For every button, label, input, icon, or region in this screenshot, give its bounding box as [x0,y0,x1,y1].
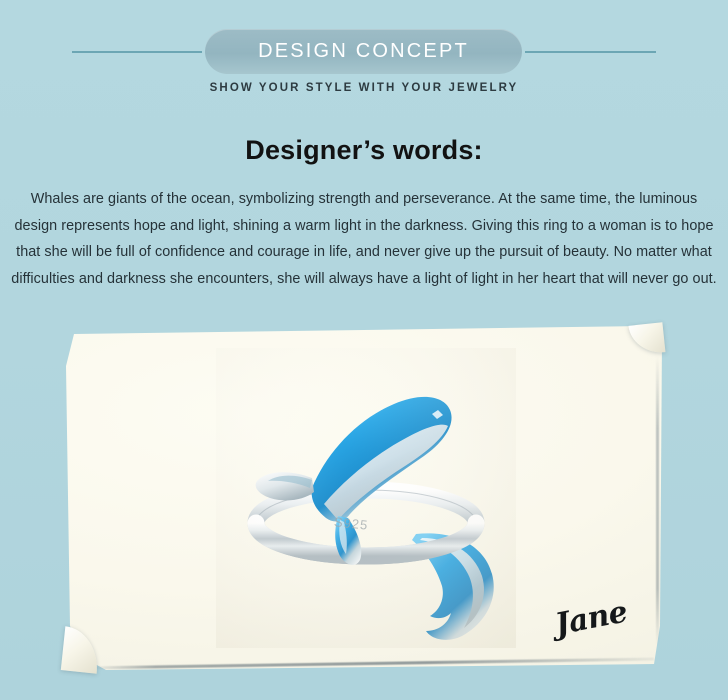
whale-ring-svg [216,348,516,648]
divider-line-left [72,51,202,53]
whale-ring-illustration: S925 [216,348,516,648]
header: DESIGN CONCEPT [0,0,728,118]
paper-edge-right [656,356,659,646]
page-title: Designer’s words: [0,135,728,166]
design-concept-badge-label: DESIGN CONCEPT [258,40,469,63]
header-subtitle: SHOW YOUR STYLE WITH YOUR JEWELRY [0,82,728,94]
page-background: DESIGN CONCEPT SHOW YOUR STYLE WITH YOUR… [0,0,728,700]
design-concept-badge: DESIGN CONCEPT [205,29,522,74]
divider-line-right [525,51,656,53]
paper-card: S925 Jane [66,326,662,674]
designer-words-paragraph: Whales are giants of the ocean, symboliz… [8,186,720,292]
